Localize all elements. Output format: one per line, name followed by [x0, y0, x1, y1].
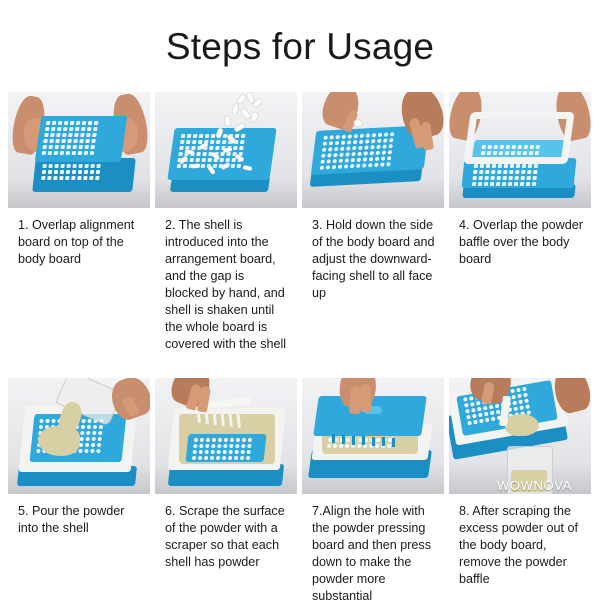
step-cell-4: 4. Overlap the powder baffle over the bo…: [449, 92, 591, 353]
step-cell-5: 5. Pour the powder into the shell: [8, 378, 150, 605]
alignment-board-holes: [42, 121, 99, 155]
step-caption-1: 1. Overlap alignment board on top of the…: [8, 208, 150, 268]
step-caption-5: 5. Pour the powder into the shell: [8, 494, 150, 537]
step-cell-6: 6. Scrape the surface of the powder with…: [155, 378, 297, 605]
steps-grid: 1. Overlap alignment board on top of the…: [8, 92, 592, 605]
step-caption-3: 3. Hold down the side of the body board …: [302, 208, 444, 302]
step-caption-8: 8. After scraping the excess powder out …: [449, 494, 591, 588]
middle-finger: [360, 384, 372, 412]
step-photo-3: [302, 92, 444, 208]
step-caption-6: 6. Scrape the surface of the powder with…: [155, 494, 297, 571]
shell-holes: [192, 438, 252, 460]
step-photo-6: [155, 378, 297, 494]
step-cell-2: 2. The shell is introduced into the arra…: [155, 92, 297, 353]
step-cell-7: 7.Align the hole with the powder pressin…: [302, 378, 444, 605]
step-caption-4: 4. Overlap the powder baffle over the bo…: [449, 208, 591, 268]
step-cell-8: WOWNOVA 8. After scraping the excess pow…: [449, 378, 591, 605]
watermark: WOWNOVA: [497, 478, 572, 493]
step-caption-7: 7.Align the hole with the powder pressin…: [302, 494, 444, 605]
capsule-tops-grid: [320, 132, 395, 170]
page-title: Steps for Usage: [0, 0, 600, 65]
step-photo-1: [8, 92, 150, 208]
step-photo-2: [155, 92, 297, 208]
powder-baffle-frame: [463, 112, 574, 164]
body-board-holes: [472, 164, 538, 186]
steps-row-bottom: 5. Pour the powder into the shell: [8, 378, 592, 605]
body-board-holes: [41, 164, 101, 180]
step-cell-3: 3. Hold down the side of the body board …: [302, 92, 444, 353]
excess-powder: [505, 414, 539, 436]
step-photo-5: [8, 378, 150, 494]
steps-row-top: 1. Overlap alignment board on top of the…: [8, 92, 592, 353]
step-caption-2: 2. The shell is introduced into the arra…: [155, 208, 297, 353]
step-photo-7: [302, 378, 444, 494]
step-photo-4: [449, 92, 591, 208]
step-cell-1: 1. Overlap alignment board on top of the…: [8, 92, 150, 353]
step-photo-8: WOWNOVA: [449, 378, 591, 494]
